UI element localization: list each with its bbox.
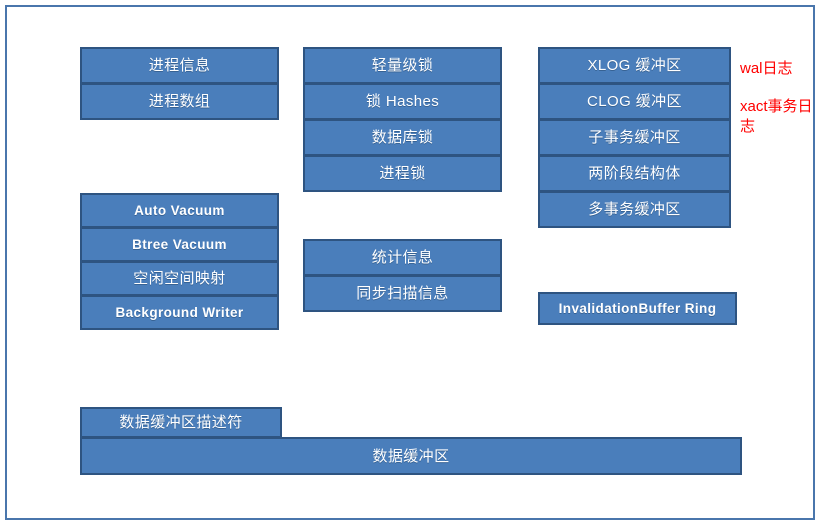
box-process-array[interactable]: 进程数组 bbox=[80, 83, 279, 120]
box-auto-vacuum[interactable]: Auto Vacuum bbox=[80, 193, 279, 228]
box-data-buffer-descriptor[interactable]: 数据缓冲区描述符 bbox=[80, 407, 282, 438]
annotation-xact-log: xact事务日志 bbox=[740, 97, 824, 137]
invalidation-group: InvalidationBuffer Ring bbox=[538, 292, 737, 325]
vacuum-group: Auto Vacuum Btree Vacuum 空闲空间映射 Backgrou… bbox=[80, 193, 279, 330]
box-statistics-info[interactable]: 统计信息 bbox=[303, 239, 502, 276]
box-clog-buffer[interactable]: CLOG 缓冲区 bbox=[538, 83, 731, 120]
process-group: 进程信息 进程数组 bbox=[80, 47, 279, 120]
box-xlog-buffer[interactable]: XLOG 缓冲区 bbox=[538, 47, 731, 84]
statistics-group: 统计信息 同步扫描信息 bbox=[303, 239, 502, 312]
box-invalidation-buffer-ring[interactable]: InvalidationBuffer Ring bbox=[538, 292, 737, 325]
diagram-frame: 进程信息 进程数组 Auto Vacuum Btree Vacuum 空闲空间映… bbox=[5, 5, 815, 520]
box-two-phase-struct[interactable]: 两阶段结构体 bbox=[538, 155, 731, 192]
data-buffer-group: 数据缓冲区描述符 数据缓冲区 bbox=[80, 407, 742, 475]
box-database-lock[interactable]: 数据库锁 bbox=[303, 119, 502, 156]
lock-group: 轻量级锁 锁 Hashes 数据库锁 进程锁 bbox=[303, 47, 502, 192]
box-sync-scan-info[interactable]: 同步扫描信息 bbox=[303, 275, 502, 312]
box-subtransaction-buffer[interactable]: 子事务缓冲区 bbox=[538, 119, 731, 156]
box-btree-vacuum[interactable]: Btree Vacuum bbox=[80, 227, 279, 262]
box-lock-hashes[interactable]: 锁 Hashes bbox=[303, 83, 502, 120]
box-multixact-buffer[interactable]: 多事务缓冲区 bbox=[538, 191, 731, 228]
annotation-wal-log: wal日志 bbox=[740, 59, 824, 79]
box-free-space-map[interactable]: 空闲空间映射 bbox=[80, 261, 279, 296]
box-process-lock[interactable]: 进程锁 bbox=[303, 155, 502, 192]
xlog-buffer-group: XLOG 缓冲区 CLOG 缓冲区 子事务缓冲区 两阶段结构体 多事务缓冲区 bbox=[538, 47, 731, 228]
box-process-info[interactable]: 进程信息 bbox=[80, 47, 279, 84]
box-data-buffer[interactable]: 数据缓冲区 bbox=[80, 437, 742, 475]
box-background-writer[interactable]: Background Writer bbox=[80, 295, 279, 330]
box-lightweight-lock[interactable]: 轻量级锁 bbox=[303, 47, 502, 84]
